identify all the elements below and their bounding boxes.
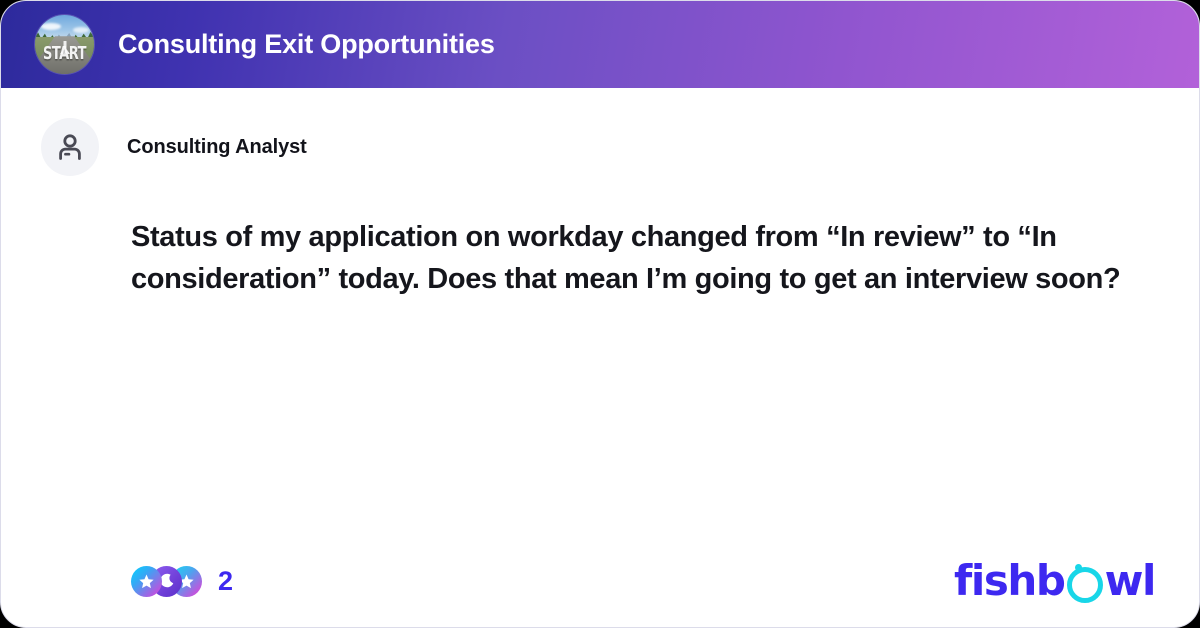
fishbowl-logo: fishb wl [954,560,1155,602]
avatar-cloud [41,23,61,30]
reaction-count: 2 [218,566,233,597]
star-reaction-icon[interactable] [131,566,162,597]
reactions-group[interactable]: 2 [131,566,233,597]
group-header: START Consulting Exit Opportunities [1,1,1199,88]
post-footer: 2 fishb wl [1,533,1199,628]
post-card: START Consulting Exit Opportunities Cons… [0,0,1200,628]
post-body-area: Consulting Analyst Status of my applicat… [1,88,1199,628]
brand-text-after: wl [1105,560,1155,602]
avatar [41,118,99,176]
group-avatar-road-image: START [35,15,94,74]
post-text: Status of my application on workday chan… [131,216,1141,301]
avatar-cloud [73,27,89,33]
page-title: Consulting Exit Opportunities [118,29,495,60]
author-name: Consulting Analyst [127,136,307,159]
avatar-road-text: START [43,44,86,64]
reaction-badges[interactable] [131,566,202,597]
fishbowl-o-icon [1067,567,1103,603]
person-icon [54,131,86,163]
star-glyph [137,572,156,591]
brand-text-before: fishb [954,560,1065,602]
post-author-row: Consulting Analyst [1,88,1199,176]
